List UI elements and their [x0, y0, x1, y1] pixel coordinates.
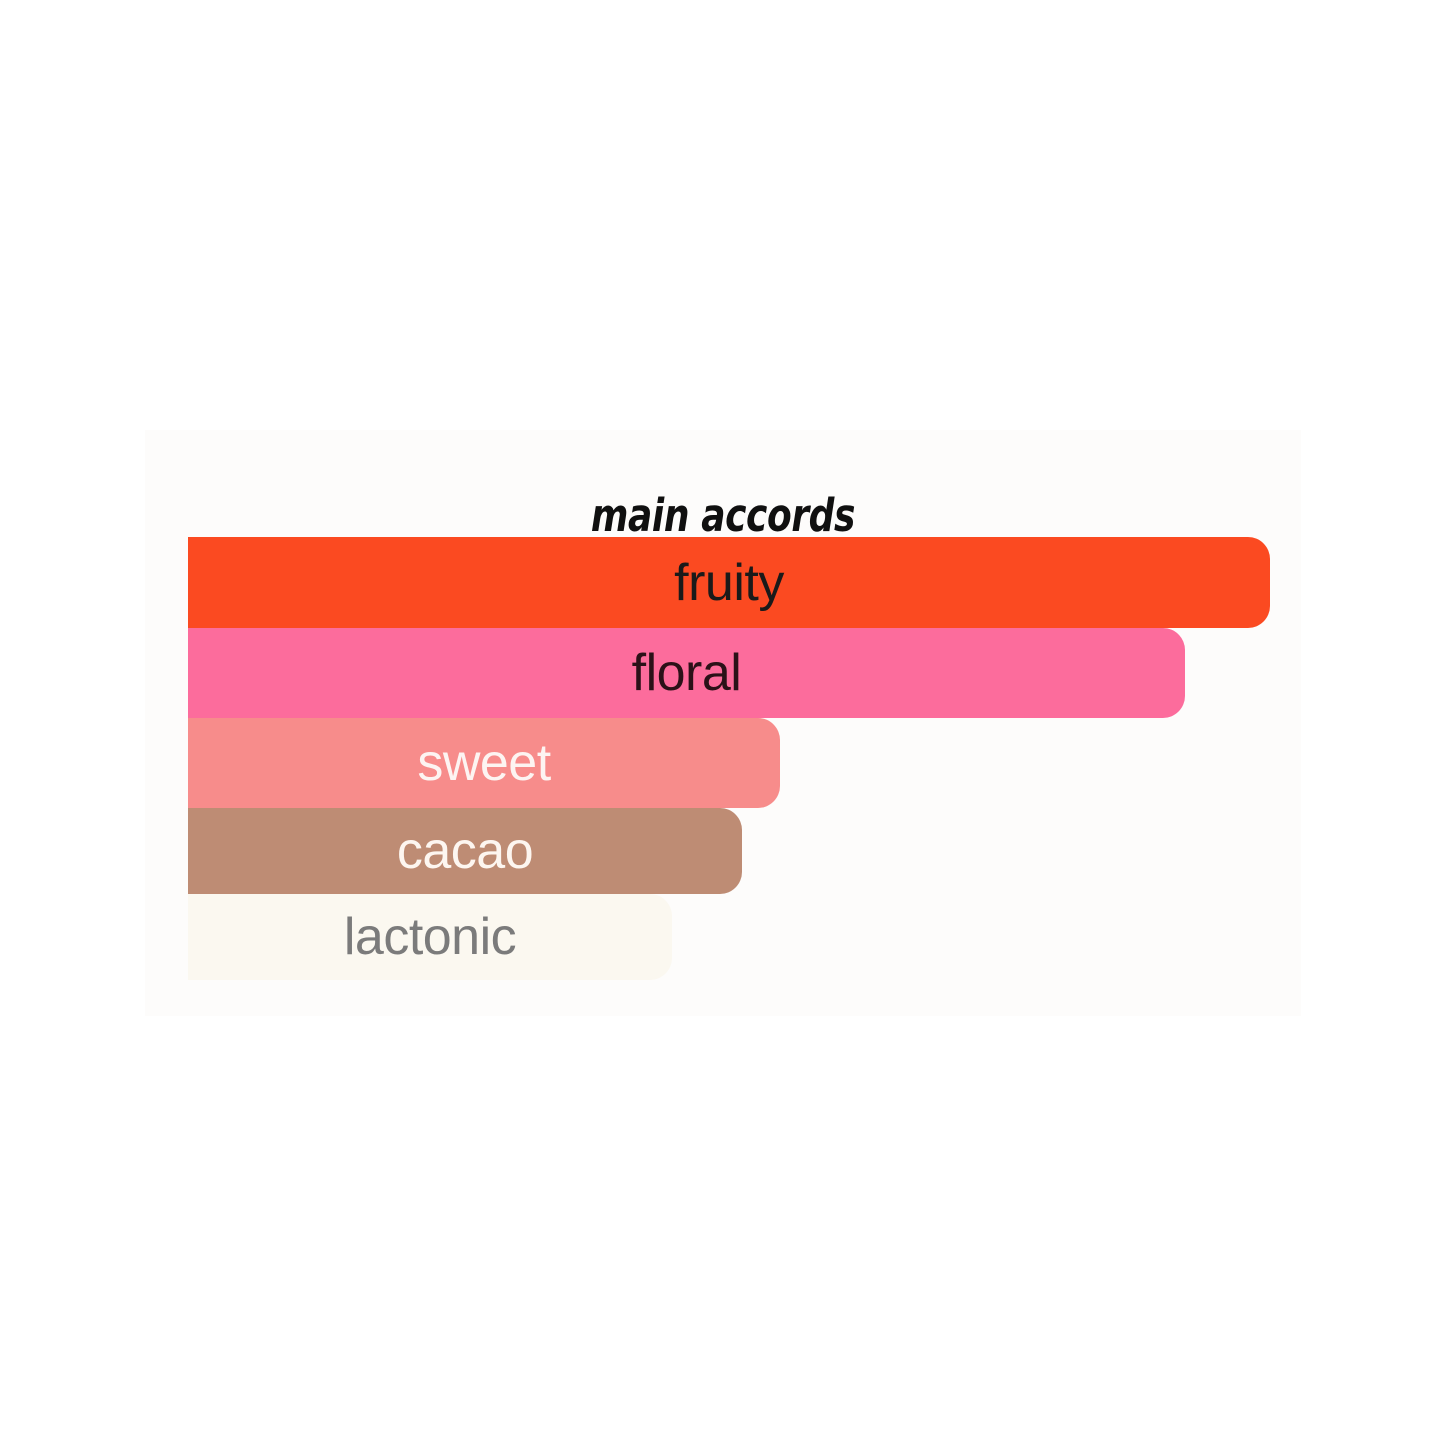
accord-label-fruity: fruity: [188, 537, 1270, 628]
accord-bar-sweet[interactable]: sweet: [188, 718, 780, 808]
accord-label-lactonic: lactonic: [188, 894, 672, 980]
accord-bar-floral[interactable]: floral: [188, 628, 1185, 718]
accord-label-floral: floral: [188, 628, 1185, 718]
accord-label-cacao: cacao: [188, 808, 742, 894]
accord-bar-list: fruityfloralsweetcacaolactonic: [188, 537, 1301, 980]
accord-bar-cacao[interactable]: cacao: [188, 808, 742, 894]
accord-label-sweet: sweet: [188, 718, 780, 808]
page-title: main accords: [261, 493, 1186, 538]
accord-bar-fruity[interactable]: fruity: [188, 537, 1270, 628]
main-accords-panel: main accords fruityfloralsweetcacaolacto…: [145, 430, 1301, 1016]
accords-screenshot: main accords fruityfloralsweetcacaolacto…: [0, 0, 1445, 1445]
accord-bar-lactonic[interactable]: lactonic: [188, 894, 672, 980]
